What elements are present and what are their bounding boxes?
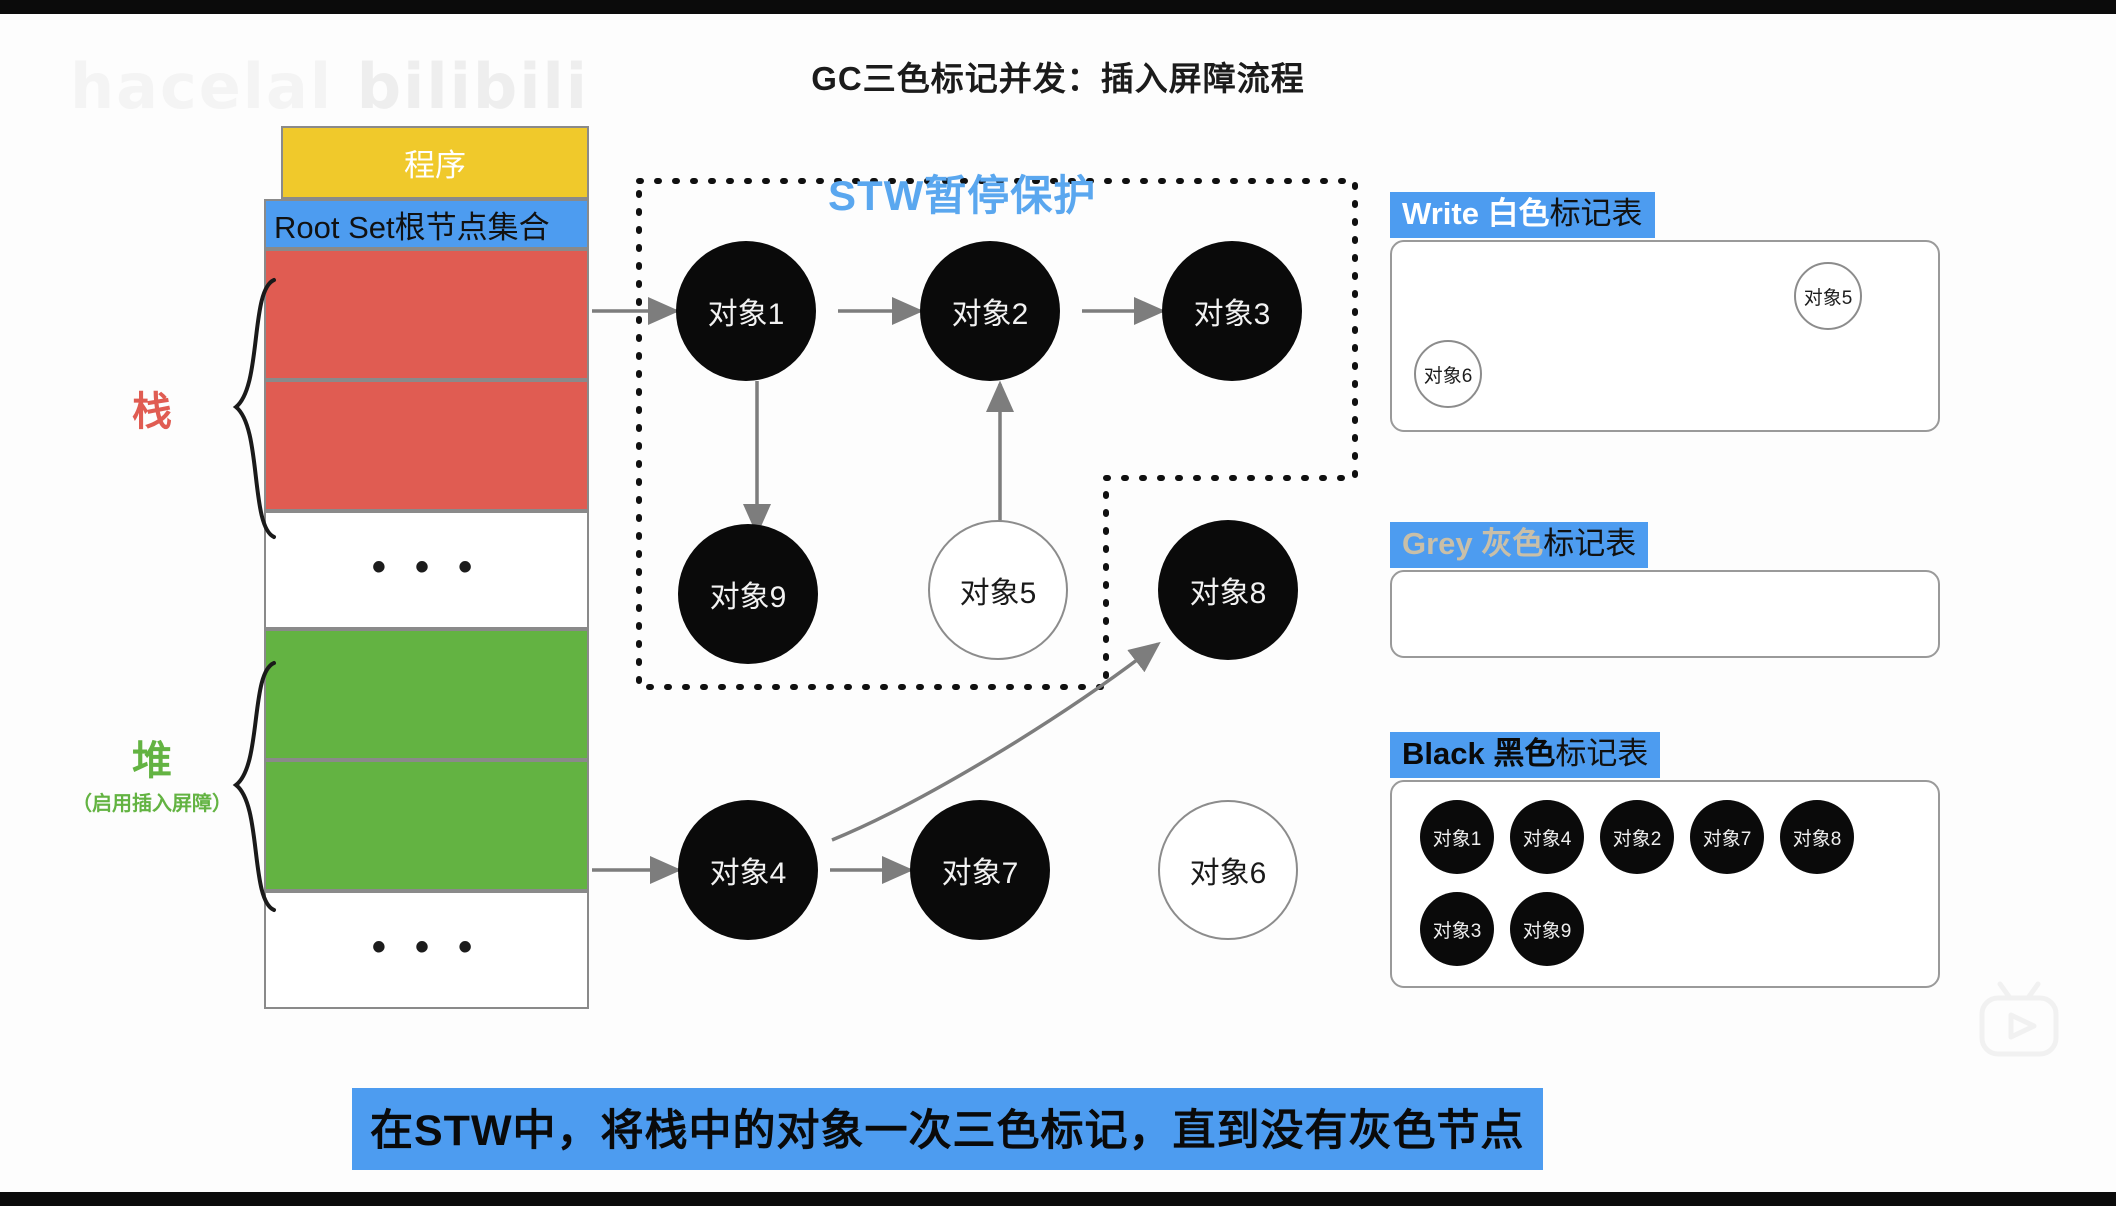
memory-cell-stack-frame-2 (264, 380, 589, 511)
black-table-chip-obj7[interactable]: 对象7 (1690, 800, 1764, 874)
black-header-color-word: 黑色 (1493, 736, 1555, 771)
black-header-suffix: 标记表 (1555, 736, 1648, 771)
graph-node-obj1[interactable]: 对象1 (676, 241, 816, 381)
stack-brace (228, 276, 280, 541)
memory-cell-heap-ellipsis: • • • (264, 891, 589, 1009)
graph-node-obj2[interactable]: 对象2 (920, 241, 1060, 381)
memory-cell-root-set: Root Set根节点集合 (264, 199, 589, 249)
memory-cell-program: 程序 (281, 126, 589, 199)
black-table-header: Black 黑色标记表 (1390, 732, 1660, 778)
heap-sublabel: （启用插入屏障） (42, 787, 262, 816)
graph-node-obj4-label: 对象4 (710, 848, 787, 892)
graph-node-obj3[interactable]: 对象3 (1162, 241, 1302, 381)
memory-cell-heap-block-1 (264, 629, 589, 760)
write-white-header-color-word: 白色 (1488, 196, 1550, 231)
black-table-chip-obj8-label: 对象8 (1793, 824, 1842, 851)
black-table-chip-obj9[interactable]: 对象9 (1510, 892, 1584, 966)
black-table-chip-obj4-label: 对象4 (1523, 824, 1572, 851)
grey-table-box (1390, 570, 1940, 658)
stack-label: 栈 (92, 379, 212, 437)
black-table-chip-obj1-label: 对象1 (1433, 824, 1482, 851)
graph-node-obj9-label: 对象9 (710, 572, 787, 616)
heap-label: 堆 (42, 739, 262, 783)
memory-cell-stack-ellipsis: • • • (264, 511, 589, 629)
graph-node-obj8[interactable]: 对象8 (1158, 520, 1298, 660)
stw-title: STW暂停保护 (828, 162, 1096, 223)
black-table-box: 对象1 对象4 对象2 对象7 对象8 对象3 对象9 (1390, 780, 1940, 988)
graph-node-obj7[interactable]: 对象7 (910, 800, 1050, 940)
slide-canvas: hacelal bilibili GC三色标记并发：插入屏障流程 程序 Root… (0, 14, 2116, 1192)
write-white-table-box: 对象5 对象6 (1390, 240, 1940, 432)
grey-table-header: Grey 灰色标记表 (1390, 522, 1648, 568)
memory-cell-stack-frame-1 (264, 249, 589, 380)
grey-header-en: Grey (1402, 526, 1481, 561)
black-table-chip-obj2-label: 对象2 (1613, 824, 1662, 851)
page-title: GC三色标记并发：插入屏障流程 (0, 52, 2116, 100)
graph-node-obj6[interactable]: 对象6 (1158, 800, 1298, 940)
white-table-chip-obj6-label: 对象6 (1424, 361, 1473, 388)
black-table-chip-obj9-label: 对象9 (1523, 916, 1572, 943)
bilibili-tv-icon (1966, 974, 2072, 1070)
memory-column: 程序 Root Set根节点集合 • • • • • • (264, 126, 589, 1009)
black-table-chip-obj7-label: 对象7 (1703, 824, 1752, 851)
write-white-header-en: Write (1402, 196, 1488, 231)
write-white-mark-table: Write 白色标记表 对象5 对象6 (1390, 192, 1940, 452)
memory-cell-root-set-label: Root Set根节点集合 (274, 202, 550, 247)
black-mark-table: Black 黑色标记表 对象1 对象4 对象2 对象7 对象8 (1390, 732, 1940, 1002)
memory-cell-heap-block-2 (264, 760, 589, 891)
grey-header-color-word: 灰色 (1481, 526, 1543, 561)
write-white-header-suffix: 标记表 (1550, 196, 1643, 231)
stack-ellipsis-label: • • • (372, 567, 481, 573)
graph-node-obj7-label: 对象7 (942, 848, 1019, 892)
black-table-chip-obj2[interactable]: 对象2 (1600, 800, 1674, 874)
graph-node-obj2-label: 对象2 (952, 289, 1029, 333)
white-table-chip-obj5-label: 对象5 (1804, 283, 1853, 310)
black-table-chip-obj1[interactable]: 对象1 (1420, 800, 1494, 874)
white-table-chip-obj5[interactable]: 对象5 (1794, 262, 1862, 330)
bottom-caption: 在STW中，将栈中的对象一次三色标记，直到没有灰色节点 (352, 1088, 1543, 1170)
letterbox-bottom-bar (0, 1192, 2116, 1206)
graph-node-obj1-label: 对象1 (708, 289, 785, 333)
graph-node-obj9[interactable]: 对象9 (678, 524, 818, 664)
graph-node-obj8-label: 对象8 (1190, 568, 1267, 612)
graph-node-obj5[interactable]: 对象5 (928, 520, 1068, 660)
heap-label-group: 堆 （启用插入屏障） (42, 739, 262, 816)
graph-node-obj5-label: 对象5 (960, 568, 1037, 612)
black-table-chip-obj3[interactable]: 对象3 (1420, 892, 1494, 966)
grey-mark-table: Grey 灰色标记表 (1390, 522, 1940, 692)
black-table-chip-obj8[interactable]: 对象8 (1780, 800, 1854, 874)
black-table-chip-obj4[interactable]: 对象4 (1510, 800, 1584, 874)
grey-header-suffix: 标记表 (1543, 526, 1636, 561)
black-table-chip-obj3-label: 对象3 (1433, 916, 1482, 943)
heap-ellipsis-label: • • • (372, 947, 481, 953)
graph-node-obj4[interactable]: 对象4 (678, 800, 818, 940)
memory-cell-program-label: 程序 (404, 140, 466, 185)
screenshot-stage: hacelal bilibili GC三色标记并发：插入屏障流程 程序 Root… (0, 0, 2116, 1206)
graph-node-obj3-label: 对象3 (1194, 289, 1271, 333)
letterbox-top-bar (0, 0, 2116, 14)
graph-node-obj6-label: 对象6 (1190, 848, 1267, 892)
write-white-table-header: Write 白色标记表 (1390, 192, 1655, 238)
black-header-en: Black (1402, 736, 1493, 771)
white-table-chip-obj6[interactable]: 对象6 (1414, 340, 1482, 408)
